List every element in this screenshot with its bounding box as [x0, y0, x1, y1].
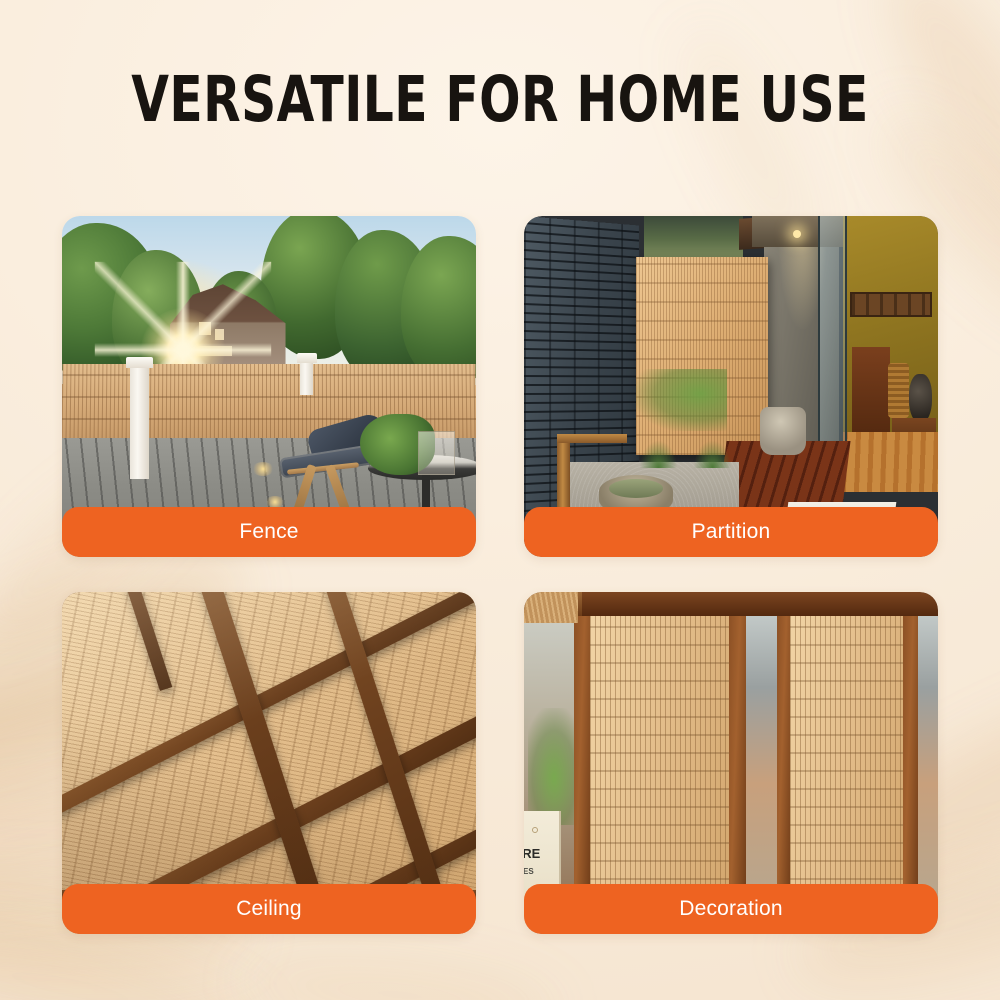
poster-canvas: VERSATILE FOR HOME USE — [0, 0, 1000, 1000]
sign-text-secondary: ES — [524, 867, 534, 876]
use-case-card-partition[interactable]: Partition — [524, 216, 938, 557]
fence-post — [300, 361, 313, 395]
lens-flare — [252, 462, 274, 476]
card-label-ceiling: Ceiling — [62, 884, 476, 934]
use-case-card-decoration[interactable]: RE ES Decoration — [524, 592, 938, 934]
wooden-frame-post — [903, 592, 918, 934]
photo-pergola-reed-ceiling — [62, 592, 476, 934]
card-label-text: Partition — [692, 520, 771, 544]
card-label-fence: Fence — [62, 507, 476, 557]
photo-outdoor-deck-reed-fence — [62, 216, 476, 557]
bamboo-spout-arm — [557, 434, 627, 443]
use-case-grid: Fence — [62, 216, 938, 936]
card-label-text: Ceiling — [236, 897, 302, 921]
card-label-partition: Partition — [524, 507, 938, 557]
card-label-text: Fence — [239, 520, 298, 544]
wooden-frame-post — [777, 592, 790, 934]
basin-water — [609, 479, 663, 498]
reed-awning — [524, 592, 578, 623]
wooden-cabinet — [852, 347, 890, 440]
iron-kettle — [909, 374, 932, 423]
photo-reed-panel-room-divider: RE ES — [524, 592, 938, 934]
sliding-glass-door — [818, 216, 847, 462]
top-frame-beam — [524, 592, 938, 616]
foliage-gap — [644, 216, 743, 257]
lattice-shelf — [850, 292, 932, 317]
photo-japanese-courtyard-reed-partition — [524, 216, 938, 557]
light-shading — [62, 592, 476, 934]
lantern — [418, 431, 455, 475]
sign-emblem-icon — [532, 827, 538, 833]
wooden-frame-post — [574, 592, 591, 934]
use-case-card-fence[interactable]: Fence — [62, 216, 476, 557]
warm-interior-room — [843, 216, 938, 489]
view-gap — [743, 592, 776, 934]
sign-text-primary: RE — [524, 846, 540, 861]
card-label-decoration: Decoration — [524, 884, 938, 934]
fence-post — [130, 366, 149, 479]
moss-grass — [694, 441, 731, 468]
moss-grass — [640, 441, 677, 468]
ceiling-downlight — [793, 230, 801, 238]
ceramic-jar — [888, 363, 909, 418]
wooden-frame-post — [729, 592, 746, 934]
wood-floor — [843, 432, 938, 492]
use-case-card-ceiling[interactable]: Ceiling — [62, 592, 476, 934]
page-title: VERSATILE FOR HOME USE — [70, 68, 930, 131]
card-label-text: Decoration — [679, 897, 783, 921]
view-gap — [917, 592, 938, 934]
stone-vessel — [760, 407, 806, 455]
maple-branch — [636, 369, 727, 430]
